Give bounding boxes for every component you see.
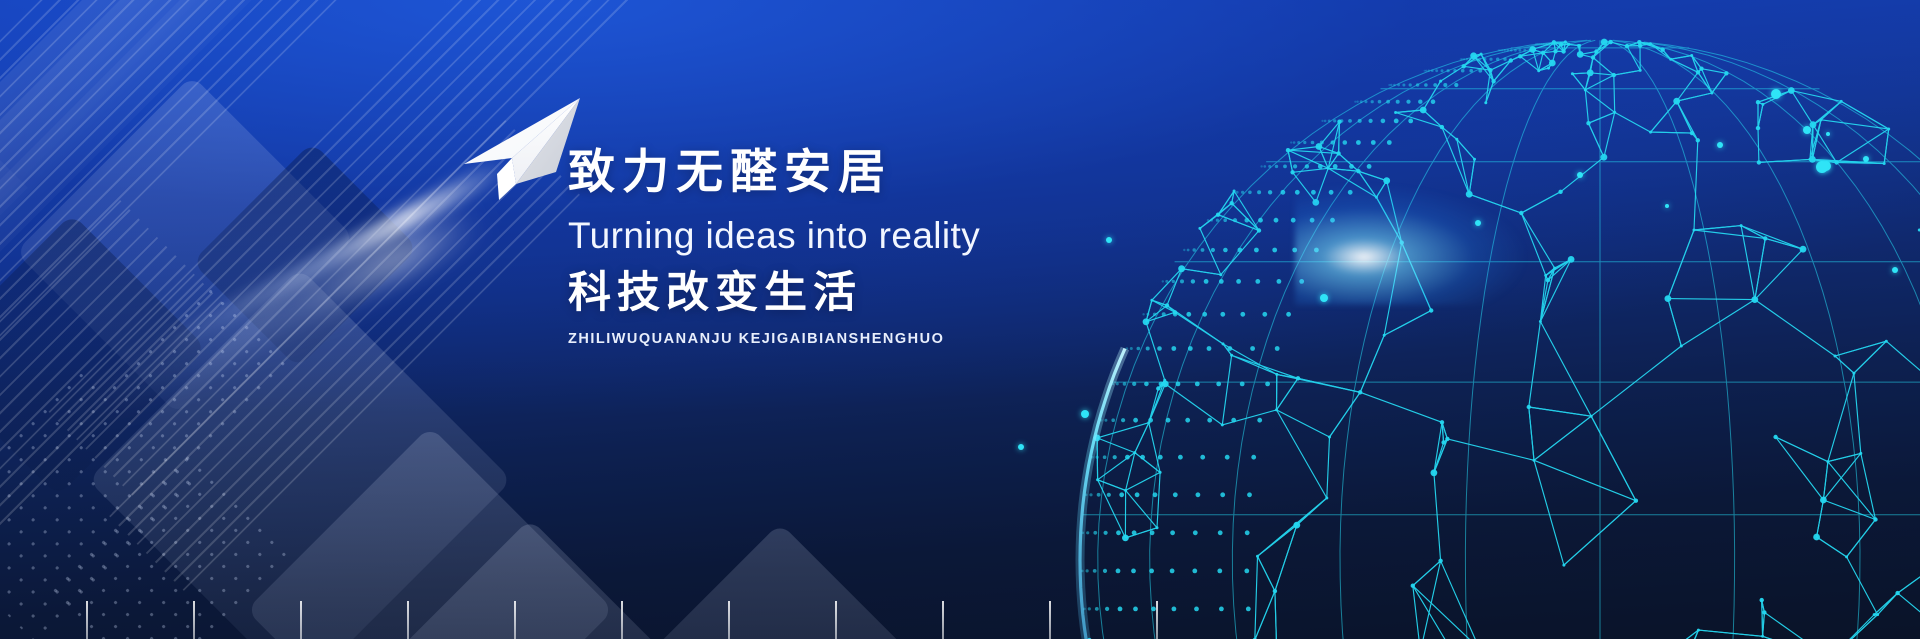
headline-chinese: 致力无醛安居 <box>568 148 1268 195</box>
bottom-tick <box>1049 601 1051 639</box>
light-trail-streak <box>76 205 485 425</box>
bottom-tick <box>1156 601 1158 639</box>
sparkle-dot <box>1320 294 1328 302</box>
subheadline-chinese: 科技改变生活 <box>568 272 1268 315</box>
sparkle-dot <box>1577 172 1583 178</box>
globe-limb-highlight <box>1080 349 1546 639</box>
bottom-tick <box>193 601 195 639</box>
bottom-tick <box>835 601 837 639</box>
sparkle-dot <box>1771 89 1781 99</box>
bottom-tick <box>514 601 516 639</box>
decor-thin-lines <box>0 200 226 639</box>
bottom-tick <box>300 601 302 639</box>
tagline-english: Turning ideas into reality <box>568 215 1268 256</box>
bottom-tick <box>621 601 623 639</box>
sparkle-dot <box>1717 142 1723 148</box>
globe-limb-glow <box>1080 349 1546 639</box>
bottom-tick <box>728 601 730 639</box>
sparkle-dot <box>1475 220 1481 226</box>
hero-banner: 致力无醛安居 Turning ideas into reality 科技改变生活… <box>0 0 1920 639</box>
bottom-tick-marks <box>0 599 1920 639</box>
sparkle-dot <box>1892 267 1898 273</box>
globe-rim-flare-icon <box>1295 185 1525 305</box>
sparkle-dot <box>1106 237 1112 243</box>
hero-copy-block: 致力无醛安居 Turning ideas into reality 科技改变生活… <box>568 148 1268 347</box>
sparkle-dot <box>1665 204 1669 208</box>
decor-diagonal-band <box>0 0 374 371</box>
bottom-tick <box>407 601 409 639</box>
sparkle-dot <box>1081 410 1089 418</box>
sparkle-dot <box>1826 132 1830 136</box>
bottom-tick <box>942 601 944 639</box>
pinyin-subtitle: ZHILIWUQUANANJU KEJIGAIBIANSHENGHUO <box>568 331 1268 347</box>
sparkle-dot <box>1018 444 1024 450</box>
bottom-tick <box>86 601 88 639</box>
sparkle-dot <box>1816 161 1828 173</box>
sparkle-dot <box>1803 126 1811 134</box>
decor-panel <box>88 268 512 639</box>
sparkle-dot <box>1863 156 1869 162</box>
decor-diagonal-band <box>0 120 28 584</box>
paper-plane-icon <box>452 96 582 216</box>
